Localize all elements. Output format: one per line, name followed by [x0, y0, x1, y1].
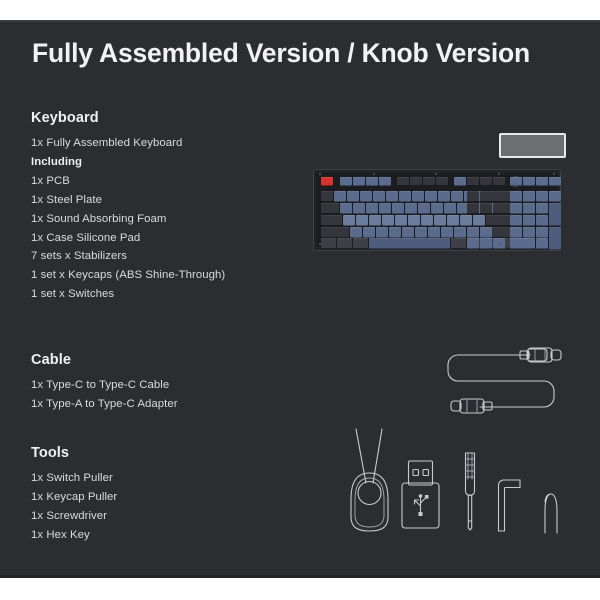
key-function	[454, 177, 466, 187]
key-letter	[340, 203, 352, 214]
case-screw	[553, 243, 555, 245]
key-numpad	[523, 215, 535, 226]
key-numpad-zero	[510, 238, 535, 249]
key-letter	[418, 203, 430, 214]
hex-key-icon	[494, 477, 524, 533]
key-ctrl	[321, 238, 336, 249]
key-numpad	[549, 177, 561, 187]
key-letter	[431, 203, 443, 214]
key-function	[436, 177, 448, 187]
key-letter	[353, 203, 365, 214]
key-function	[353, 177, 365, 187]
list-item: 1x Sound Absorbing Foam	[31, 210, 225, 229]
key-number	[360, 191, 372, 202]
key-nav	[493, 191, 505, 202]
key-letter	[389, 227, 401, 238]
key-numpad	[510, 177, 522, 187]
section-heading-keyboard: Keyboard	[31, 110, 225, 126]
list-item: 1 set x Keycaps (ABS Shine-Through)	[31, 266, 225, 285]
list-item: 1x Keycap Puller	[31, 488, 117, 507]
key-number	[451, 191, 463, 202]
keyboard-illustration	[313, 169, 561, 251]
key-function	[366, 177, 378, 187]
key-number	[425, 191, 437, 202]
section-cable: Cable 1x Type-C to Type-C Cable 1x Type-…	[31, 352, 178, 414]
case-screw	[373, 173, 375, 175]
key-letter	[434, 215, 446, 226]
case-screw	[319, 243, 321, 245]
usb-type-a-to-type-c-adapter-icon	[400, 459, 442, 531]
key-letter	[447, 215, 459, 226]
key-nav	[480, 177, 492, 187]
key-numpad-dot	[536, 238, 548, 249]
key-numpad	[510, 215, 522, 226]
key-numpad	[523, 177, 535, 187]
key-arrow-up	[480, 227, 492, 238]
key-letter	[366, 203, 378, 214]
key-left-shift	[321, 227, 349, 238]
key-numpad	[536, 227, 548, 238]
usb-type-c-cable-icon	[432, 339, 572, 421]
panel-bottom-edge	[0, 575, 600, 578]
key-letter	[392, 203, 404, 214]
key-number	[386, 191, 398, 202]
key-letter	[376, 227, 388, 238]
switch-puller-icon	[342, 427, 398, 533]
key-nav	[493, 203, 505, 214]
key-number	[399, 191, 411, 202]
key-numpad	[510, 203, 522, 214]
key-number	[334, 191, 346, 202]
key-letter	[405, 203, 417, 214]
key-backtick	[321, 191, 333, 202]
case-screw	[319, 173, 321, 175]
key-letter	[473, 215, 485, 226]
key-letter	[421, 215, 433, 226]
key-numpad	[523, 227, 535, 238]
key-capslock	[321, 215, 343, 226]
key-letter	[467, 227, 479, 238]
key-number	[373, 191, 385, 202]
key-letter	[415, 227, 427, 238]
key-nav	[467, 203, 479, 214]
key-letter	[454, 227, 466, 238]
section-keyboard: Keyboard 1x Fully Assembled Keyboard Inc…	[31, 110, 225, 304]
key-arrow	[480, 238, 492, 249]
key-nav	[493, 177, 505, 187]
key-letter	[428, 227, 440, 238]
list-item-including: Including	[31, 153, 225, 172]
key-numpad	[536, 191, 548, 202]
list-item: 1x Hex Key	[31, 526, 117, 545]
key-tab	[321, 203, 340, 214]
key-nav	[467, 177, 479, 187]
case-screw	[498, 243, 500, 245]
key-numpad-enter	[549, 227, 561, 250]
keycap-puller-icon	[536, 489, 566, 535]
key-win	[337, 238, 352, 249]
list-item: 1x Type-C to Type-C Cable	[31, 376, 178, 395]
section-heading-cable: Cable	[31, 352, 178, 368]
key-nav	[480, 191, 492, 202]
list-item: 1x Fully Assembled Keyboard	[31, 134, 225, 153]
page-title: Fully Assembled Version / Knob Version	[32, 38, 530, 69]
key-letter	[363, 227, 375, 238]
key-letter	[369, 215, 381, 226]
key-numpad	[536, 203, 548, 214]
key-letter	[408, 215, 420, 226]
key-letter	[460, 215, 472, 226]
key-numpad	[536, 215, 548, 226]
gray-color-swatch	[499, 133, 566, 158]
key-alt-right	[451, 238, 466, 249]
key-letter	[402, 227, 414, 238]
key-numpad	[549, 191, 561, 202]
list-item: 1x Screwdriver	[31, 507, 117, 526]
key-numpad	[510, 191, 522, 202]
list-item: 1x Steel Plate	[31, 191, 225, 210]
list-item: 1x PCB	[31, 172, 225, 191]
screwdriver-icon	[459, 449, 481, 533]
list-item: 1x Switch Puller	[31, 469, 117, 488]
list-item: 1x Case Silicone Pad	[31, 229, 225, 248]
case-screw	[435, 173, 437, 175]
key-nav	[467, 191, 479, 202]
key-letter	[356, 215, 368, 226]
key-number	[347, 191, 359, 202]
key-letter	[444, 203, 456, 214]
key-alt	[353, 238, 368, 249]
section-tools: Tools 1x Switch Puller 1x Keycap Puller …	[31, 445, 117, 545]
case-screw	[373, 243, 375, 245]
key-function	[410, 177, 422, 187]
key-letter	[343, 215, 355, 226]
case-screw	[498, 173, 500, 175]
key-function	[397, 177, 409, 187]
key-numpad-plus	[549, 203, 561, 226]
key-numpad	[523, 203, 535, 214]
section-heading-tools: Tools	[31, 445, 117, 461]
case-screw	[553, 173, 555, 175]
key-numpad	[510, 227, 522, 238]
list-item: 1x Type-A to Type-C Adapter	[31, 395, 178, 414]
key-function	[340, 177, 352, 187]
key-numpad	[523, 191, 535, 202]
key-escape	[321, 177, 333, 187]
key-function	[379, 177, 391, 187]
key-function	[423, 177, 435, 187]
key-letter	[395, 215, 407, 226]
key-letter	[350, 227, 362, 238]
key-space	[369, 238, 449, 249]
key-number	[412, 191, 424, 202]
key-letter	[441, 227, 453, 238]
key-letter	[382, 215, 394, 226]
key-numpad	[536, 177, 548, 187]
key-number	[438, 191, 450, 202]
product-package-contents-image: Fully Assembled Version / Knob Version K…	[0, 0, 600, 600]
case-screw	[435, 243, 437, 245]
panel-top-edge	[0, 20, 600, 22]
key-letter	[379, 203, 391, 214]
key-arrow	[467, 238, 479, 249]
key-nav	[480, 203, 492, 214]
list-item: 7 sets x Stabilizers	[31, 247, 225, 266]
list-item: 1 set x Switches	[31, 285, 225, 304]
